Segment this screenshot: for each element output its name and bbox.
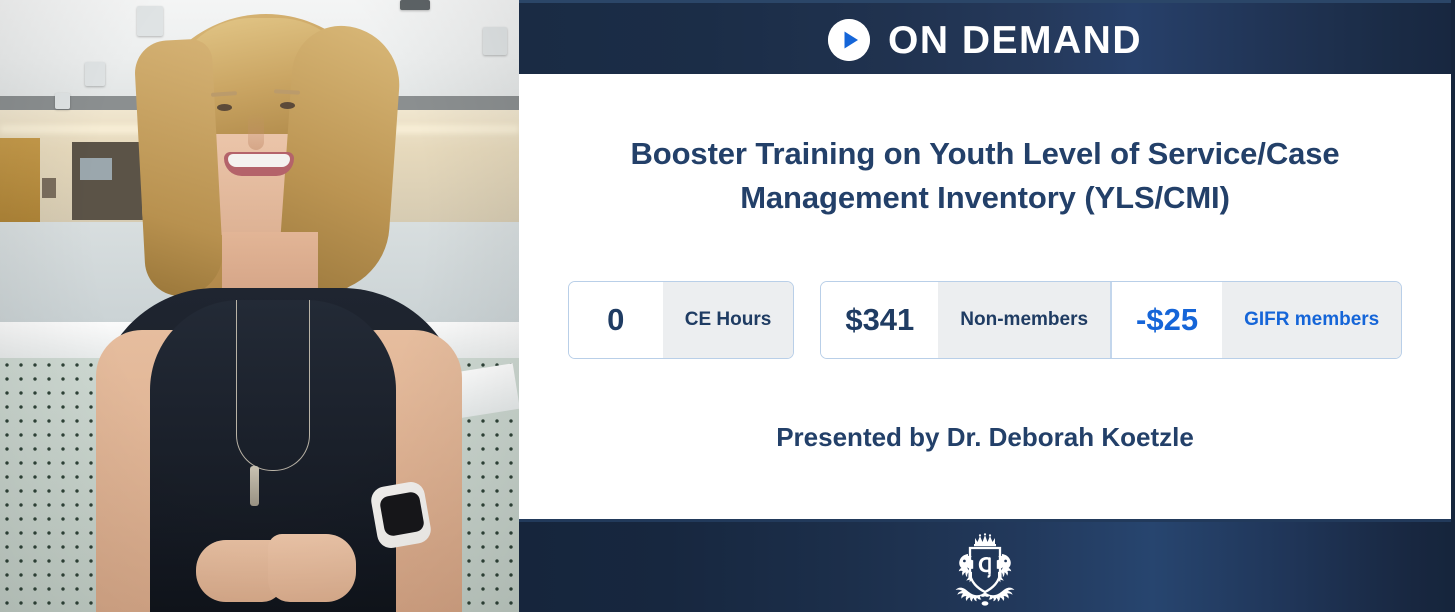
badge-cell-non-members: $341 Non-members bbox=[821, 282, 1110, 358]
ce-hours-label: CE Hours bbox=[663, 282, 794, 358]
footer-band bbox=[519, 519, 1451, 612]
on-demand-badge: ON DEMAND bbox=[828, 19, 1142, 61]
content-pane: ON DEMAND Booster Training on Youth Leve… bbox=[519, 0, 1451, 612]
non-members-price: $341 bbox=[821, 282, 938, 358]
badge-cell-gifr-members: -$25 GIFR members bbox=[1110, 282, 1401, 358]
on-demand-header-band: ON DEMAND bbox=[519, 0, 1451, 77]
course-stats-row: 0 CE Hours $341 Non-members -$25 GIFR me… bbox=[519, 281, 1451, 359]
play-circle-icon bbox=[828, 19, 870, 61]
gifr-members-discount: -$25 bbox=[1112, 282, 1222, 358]
presenter-name: Presented by Dr. Deborah Koetzle bbox=[555, 422, 1415, 453]
pricing-badge-group: $341 Non-members -$25 GIFR members bbox=[820, 281, 1402, 359]
ce-hours-value: 0 bbox=[569, 282, 663, 358]
photo-vignette bbox=[0, 0, 519, 612]
badge-cell-ce-hours: 0 CE Hours bbox=[569, 282, 794, 358]
on-demand-course-banner: ON DEMAND Booster Training on Youth Leve… bbox=[0, 0, 1455, 612]
on-demand-label: ON DEMAND bbox=[888, 21, 1142, 60]
heraldic-crest-logo bbox=[942, 530, 1028, 608]
gifr-members-label: GIFR members bbox=[1222, 282, 1401, 358]
presenter-photo bbox=[0, 0, 519, 612]
ce-hours-badge: 0 CE Hours bbox=[568, 281, 795, 359]
course-details: Booster Training on Youth Level of Servi… bbox=[519, 74, 1451, 519]
page-title: Booster Training on Youth Level of Servi… bbox=[555, 132, 1415, 220]
non-members-label: Non-members bbox=[938, 282, 1110, 358]
